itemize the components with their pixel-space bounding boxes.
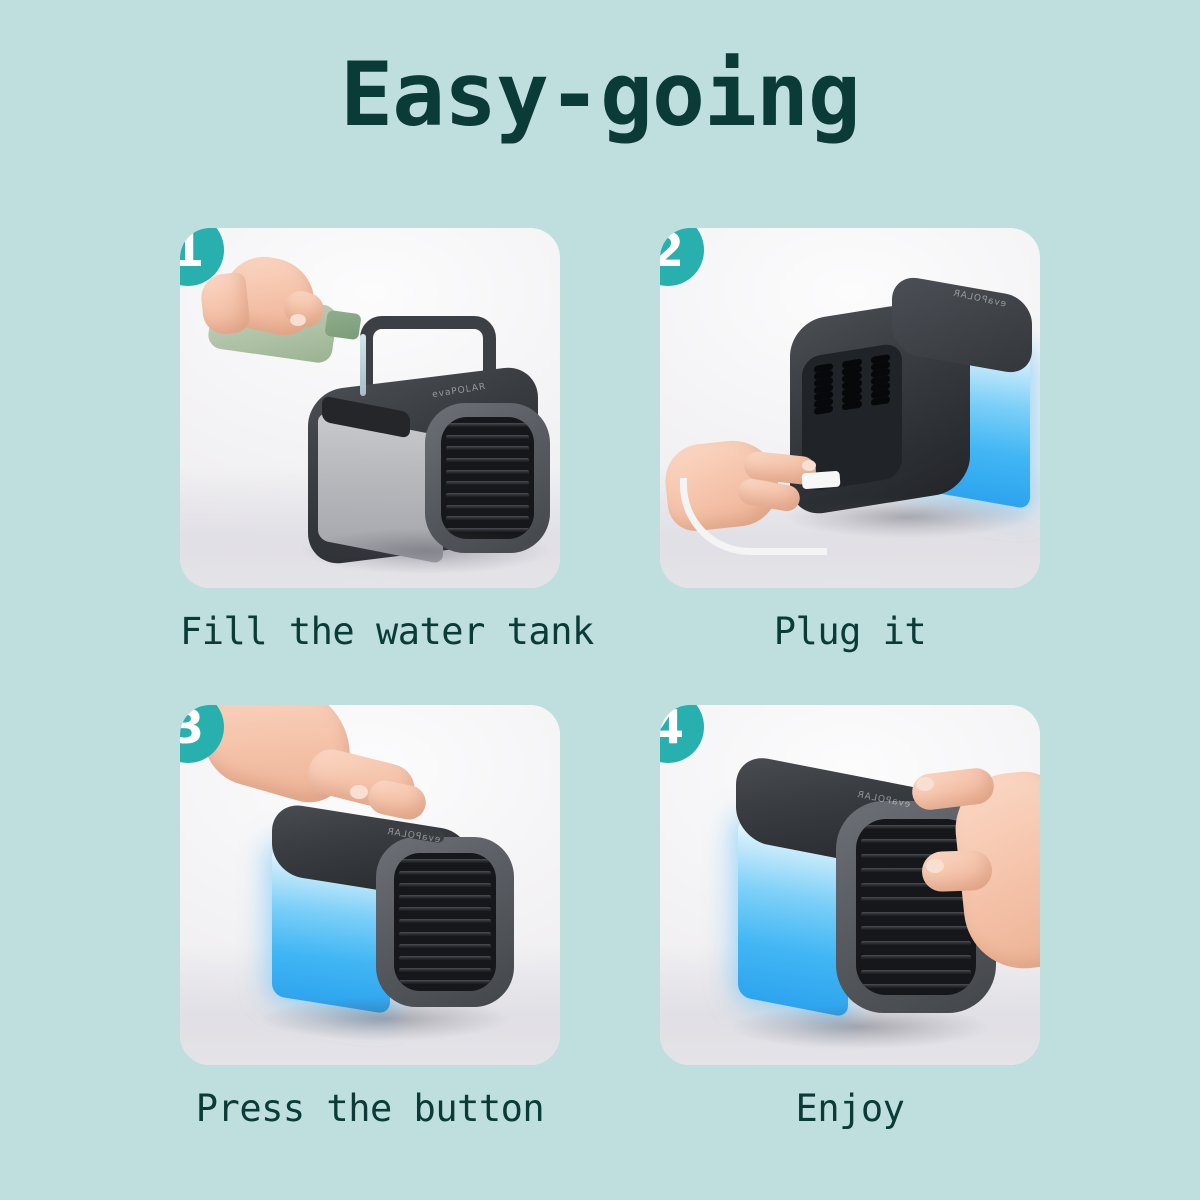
vent-louver <box>861 897 971 902</box>
device-front-bezel <box>376 837 514 1007</box>
vent-louver <box>399 883 491 888</box>
vent-louver <box>399 956 491 961</box>
step-caption-4: Enjoy <box>660 1087 1040 1130</box>
vent-louver <box>861 984 971 989</box>
water-stream <box>360 334 366 396</box>
infographic-poster: Easy-going <box>0 0 1200 1200</box>
device-front-vent <box>441 417 534 539</box>
step-image-card-4: evaPOLAR 4 <box>660 705 1040 1065</box>
steps-grid: evaPOLAR 1 Fill the water tank <box>180 228 1042 1130</box>
step-item-4: evaPOLAR 4 Enjoy <box>660 705 1040 1130</box>
step-image-card-2: evaPOLAR 2 <box>660 228 1040 588</box>
step-number: 4 <box>660 705 684 750</box>
step-item-3: evaPOLAR 3 Press the button <box>180 705 560 1130</box>
vent-louver <box>399 895 491 900</box>
vent-louver <box>446 493 529 498</box>
step-number: 2 <box>660 228 684 273</box>
vent-louver <box>446 470 529 475</box>
vent-louver <box>446 423 529 428</box>
bottle-neck <box>324 310 361 340</box>
device-shadow <box>300 528 550 574</box>
step-image-card-1: evaPOLAR 1 <box>180 228 560 588</box>
finger-nail <box>916 777 934 791</box>
device-rear-grille <box>802 342 902 493</box>
vent-louver <box>399 871 491 876</box>
vent-louver <box>446 481 529 486</box>
vent-louver <box>446 516 529 521</box>
vent-louver <box>399 968 491 973</box>
vent-louver <box>861 926 971 931</box>
vent-louver <box>399 980 491 985</box>
thumb-nail <box>290 314 306 326</box>
grille-slot <box>814 405 833 415</box>
vent-louver <box>446 458 529 463</box>
grille-slot <box>871 396 890 406</box>
page-title: Easy-going <box>0 44 1200 145</box>
vent-louver <box>399 944 491 949</box>
vent-louver <box>399 919 491 924</box>
vent-louver <box>446 446 529 451</box>
step-image-card-3: evaPOLAR 3 <box>180 705 560 1065</box>
vent-louver <box>861 941 971 946</box>
vent-louver <box>399 907 491 912</box>
finger-nail <box>802 460 816 471</box>
step-caption-3: Press the button <box>180 1087 560 1130</box>
vent-louver <box>861 955 971 960</box>
device-front-vent <box>394 853 496 991</box>
grille-column <box>814 363 833 415</box>
vent-louver <box>446 435 529 440</box>
vent-louver <box>446 505 529 510</box>
step-item-1: evaPOLAR 1 Fill the water tank <box>180 228 560 653</box>
vent-louver <box>861 912 971 917</box>
vent-louver <box>399 859 491 864</box>
step-caption-1: Fill the water tank <box>180 610 560 653</box>
device-shadow <box>730 1005 990 1049</box>
device-shadow <box>260 997 510 1041</box>
grille-column <box>871 354 890 406</box>
step-number: 3 <box>180 705 204 750</box>
usb-plug <box>801 471 840 490</box>
vent-louver <box>861 970 971 975</box>
vent-louver <box>861 839 971 844</box>
step-item-2: evaPOLAR 2 Plug it <box>660 228 1040 653</box>
vent-louver <box>399 932 491 937</box>
grille-column <box>842 358 861 410</box>
step-caption-2: Plug it <box>660 610 1040 653</box>
grille-slot <box>842 400 861 410</box>
thumb-nail <box>926 859 944 873</box>
step-number: 1 <box>180 228 204 273</box>
finger-nail <box>350 785 368 799</box>
